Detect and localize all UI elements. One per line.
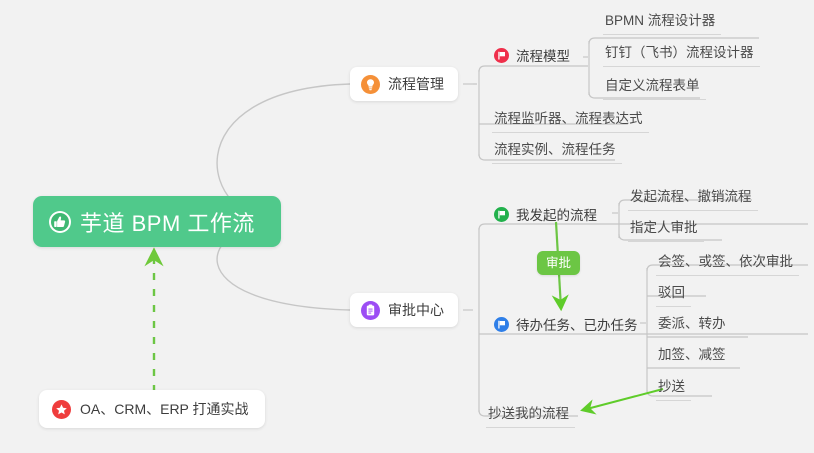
- lightbulb-icon: [361, 75, 380, 94]
- sub-node-label: 待办任务、已办任务: [516, 314, 638, 334]
- leaf-node[interactable]: 自定义流程表单: [603, 77, 706, 100]
- leaf-node[interactable]: 会签、或签、依次审批: [656, 253, 799, 276]
- leaf-node[interactable]: BPMN 流程设计器: [603, 12, 721, 35]
- green-arrow-cc: [583, 389, 663, 410]
- leaf-node[interactable]: 驳回: [656, 284, 691, 307]
- document-icon: [361, 301, 380, 320]
- star-icon: [52, 400, 71, 419]
- sub-node-label: 流程模型: [516, 45, 570, 65]
- root-label: 芋道 BPM 工作流: [80, 206, 255, 238]
- leaf-node[interactable]: 流程实例、流程任务: [492, 141, 622, 164]
- leaf-node[interactable]: 指定人审批: [628, 219, 704, 242]
- branch-label: 审批中心: [388, 300, 444, 320]
- leaf-node[interactable]: 加签、减签: [656, 346, 732, 369]
- branch-node-process-management[interactable]: 流程管理: [350, 67, 458, 101]
- leaf-node[interactable]: 钉钉（飞书）流程设计器: [603, 44, 760, 67]
- side-node-label: OA、CRM、ERP 打通实战: [80, 399, 249, 419]
- side-node-integration[interactable]: OA、CRM、ERP 打通实战: [39, 390, 265, 428]
- sub-node-process-model[interactable]: 流程模型: [494, 44, 570, 66]
- root-node[interactable]: 芋道 BPM 工作流: [33, 196, 281, 247]
- sub-node-label: 我发起的流程: [516, 204, 597, 224]
- leaf-node[interactable]: 抄送: [656, 378, 691, 401]
- wire-pm-bracket-top: [479, 66, 588, 72]
- sub-node-my-started-processes[interactable]: 我发起的流程: [494, 203, 597, 225]
- sub-node-todo-done-tasks[interactable]: 待办任务、已办任务: [494, 313, 638, 335]
- flag-icon: [494, 317, 509, 332]
- flag-icon: [494, 48, 509, 63]
- tag-badge-approval[interactable]: 审批: [537, 251, 580, 275]
- leaf-node[interactable]: 抄送我的流程: [486, 405, 575, 428]
- leaf-node[interactable]: 流程监听器、流程表达式: [492, 110, 649, 133]
- mindmap-canvas: 芋道 BPM 工作流 流程管理 审批中心: [0, 0, 814, 453]
- branch-node-approval-center[interactable]: 审批中心: [350, 293, 458, 327]
- wire-pm-bracket: [473, 70, 479, 156]
- branch-label: 流程管理: [388, 74, 444, 94]
- leaf-node[interactable]: 委派、转办: [656, 315, 732, 338]
- leaf-node[interactable]: 发起流程、撤销流程: [628, 188, 758, 211]
- flag-icon: [494, 207, 509, 222]
- thumbs-up-icon: [49, 211, 71, 233]
